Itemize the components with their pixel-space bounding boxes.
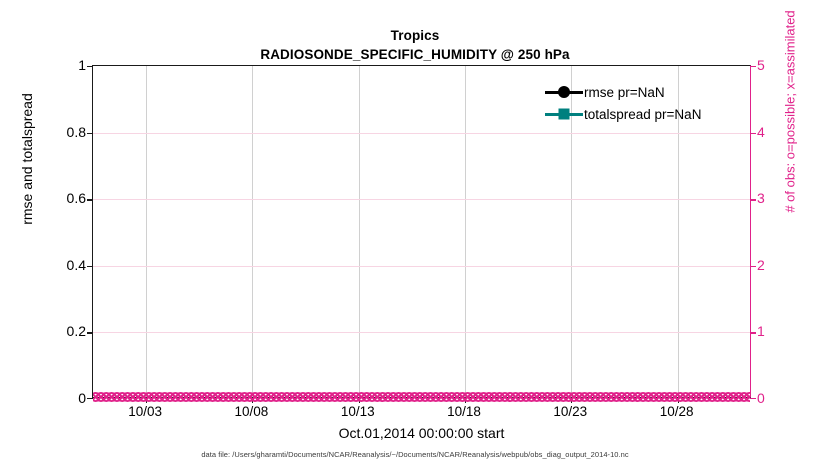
y-axis-left-tick-label: 0.8 [67,124,86,140]
y-axis-left-ticks: 00.20.40.60.81 [30,65,86,398]
x-axis-ticks: 10/0310/0810/1310/1810/2310/28 [92,404,751,424]
y-axis-left-tick-label: 0.6 [67,190,86,206]
vertical-gridline [359,66,360,397]
y-tick-mark-left [87,332,93,333]
legend-item-totalspread[interactable]: totalspread pr=NaN [545,103,745,125]
vertical-gridline [146,66,147,397]
x-axis-tick-label: 10/28 [660,404,694,419]
y-tick-mark-left [87,133,93,134]
x-tick-mark [359,397,360,403]
y-axis-right-tick-label: 3 [757,190,765,206]
legend: rmse pr=NaN totalspread pr=NaN [545,81,745,125]
legend-item-rmse[interactable]: rmse pr=NaN [545,81,745,103]
y-axis-right-tick-label: 0 [757,390,765,406]
legend-swatch-totalspread [545,106,583,122]
x-tick-mark [465,397,466,403]
y-tick-mark-left [87,398,93,399]
y-tick-mark-right [750,332,756,333]
x-axis-tick-label: 10/03 [128,404,162,419]
y-axis-left-tick-label: 0.4 [67,257,86,273]
y-tick-mark-right [750,66,756,67]
data-file-footer: data file: /Users/gharamti/Documents/NCA… [0,450,830,459]
y-axis-left-label: rmse and totalspread [19,19,35,299]
x-tick-mark [678,397,679,403]
y-axis-right-label: # of obs: o=possible; x=assimilated [783,0,798,262]
x-tick-mark [252,397,253,403]
y-tick-mark-right [750,398,756,399]
vertical-gridline [252,66,253,397]
y-tick-mark-left [87,266,93,267]
x-tick-mark [146,397,147,403]
legend-label-totalspread: totalspread pr=NaN [583,107,701,122]
horizontal-gridline [93,133,750,134]
y-tick-mark-right [750,199,756,200]
y-tick-mark-left [87,199,93,200]
x-axis-tick-label: 10/18 [447,404,481,419]
figure-canvas: Tropics RADIOSONDE_SPECIFIC_HUMIDITY @ 2… [0,0,830,470]
y-axis-left-tick-label: 0.2 [67,323,86,339]
chart-subtitle: RADIOSONDE_SPECIFIC_HUMIDITY @ 250 hPa [0,45,830,64]
y-tick-mark-left [87,66,93,67]
legend-swatch-rmse [545,84,583,100]
y-axis-left-tick-label: 1 [78,57,86,73]
y-tick-mark-right [750,266,756,267]
y-axis-right-tick-label: 2 [757,257,765,273]
horizontal-gridline [93,199,750,200]
horizontal-gridline [93,332,750,333]
filled-square-marker [559,109,570,120]
vertical-gridline [465,66,466,397]
x-axis-label: Oct.01,2014 00:00:00 start [92,425,751,441]
y-tick-mark-right [750,133,756,134]
x-axis-tick-label: 10/08 [235,404,269,419]
plot-area[interactable]: rmse pr=NaN totalspread pr=NaN [92,65,751,398]
x-axis-tick-label: 10/23 [553,404,587,419]
chart-title: Tropics [0,26,830,45]
y-axis-right-tick-label: 4 [757,124,765,140]
y-axis-right-tick-label: 1 [757,323,765,339]
y-axis-left-tick-label: 0 [78,390,86,406]
y-axis-right-tick-label: 5 [757,57,765,73]
x-axis-tick-label: 10/13 [341,404,375,419]
chart-title-block: Tropics RADIOSONDE_SPECIFIC_HUMIDITY @ 2… [0,26,830,64]
x-tick-mark [571,397,572,403]
filled-circle-marker [558,86,570,98]
horizontal-gridline [93,266,750,267]
legend-label-rmse: rmse pr=NaN [583,85,665,100]
